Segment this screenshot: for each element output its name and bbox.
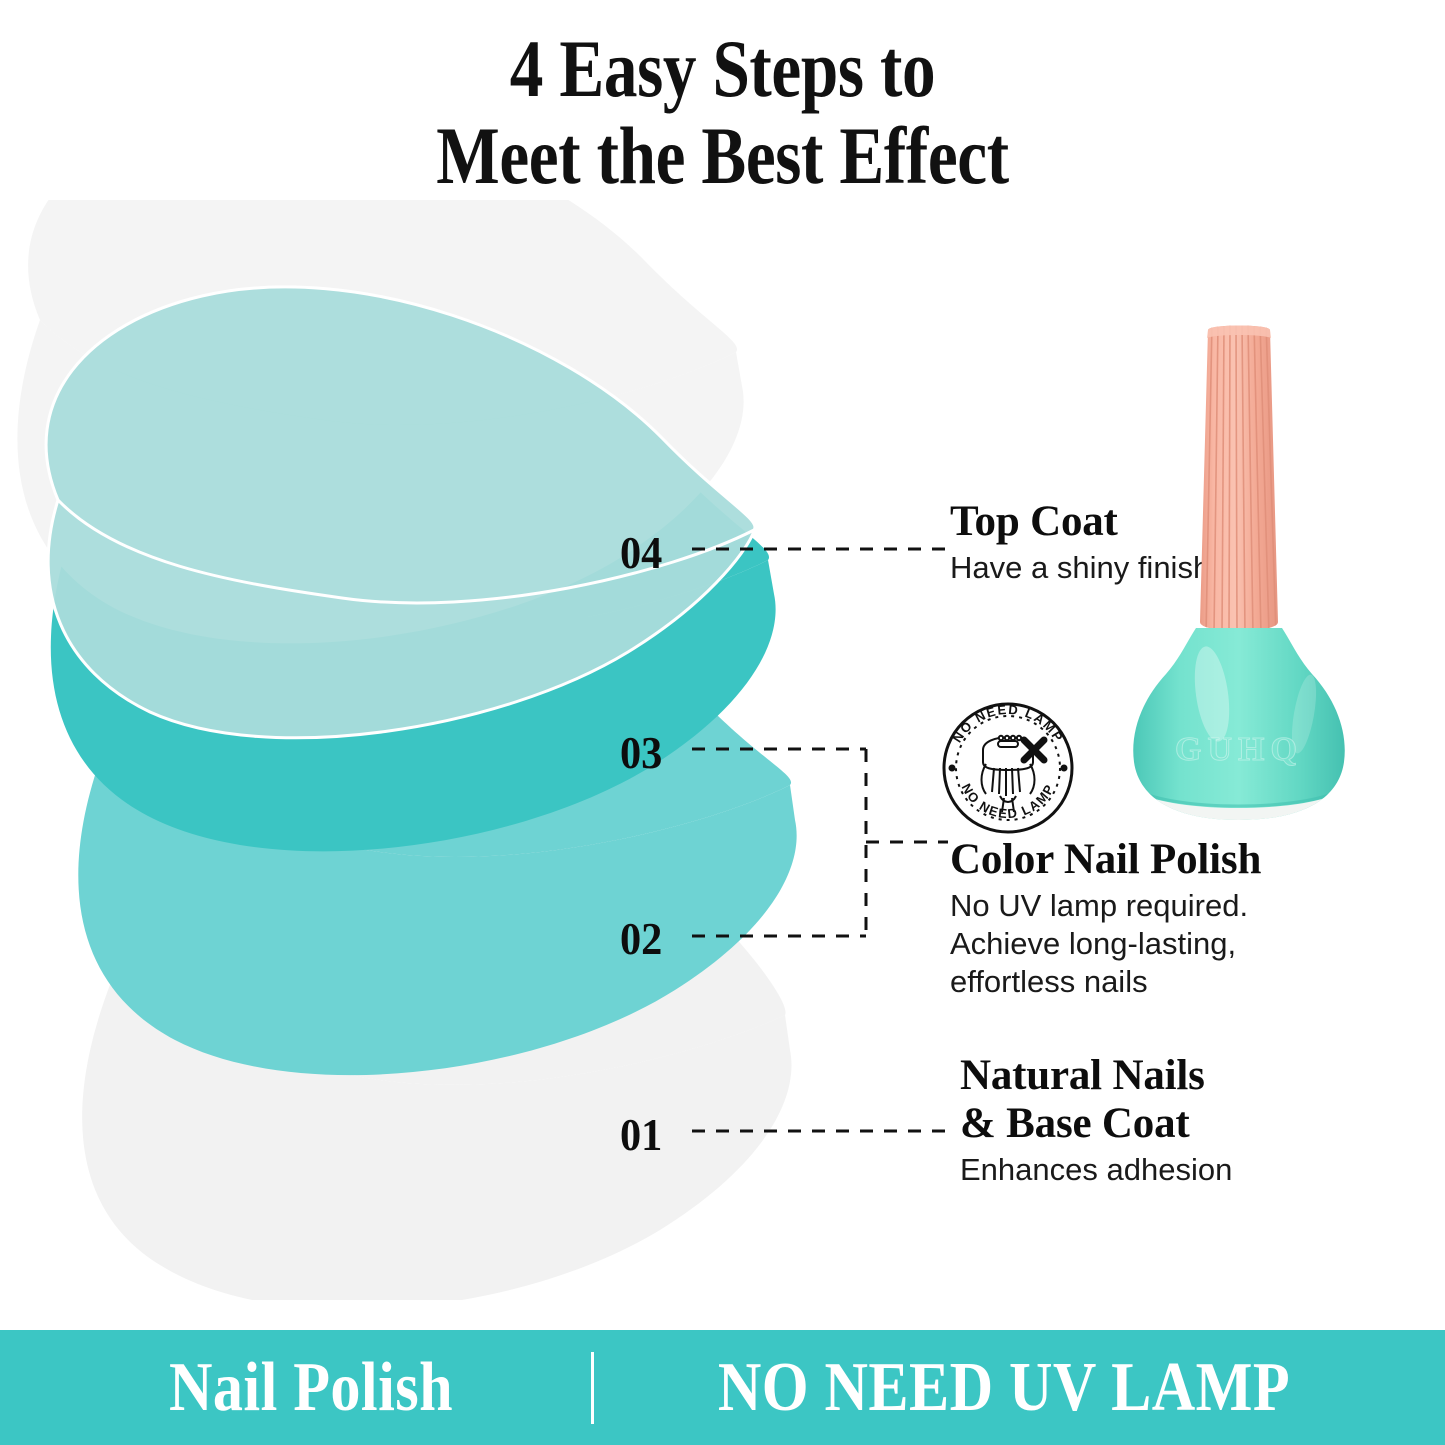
step-01-description: Enhances adhesion [960, 1151, 1232, 1189]
banner-left-text: Nail Polish [70, 1353, 552, 1423]
step-01-heading-line-2: & Base Coat [960, 1100, 1232, 1148]
step-03-heading-line-1: Color Nail Polish [950, 836, 1261, 884]
page-title: 4 Easy Steps to Meet the Best Effect [130, 26, 1315, 200]
bottle-brand-emboss: GUHQ [1175, 731, 1303, 768]
nail-polish-bottle-image: GUHQ [1108, 322, 1370, 842]
infographic-canvas: 4 Easy Steps to Meet the Best Effect [0, 0, 1445, 1445]
badge-dot-right [1061, 765, 1068, 772]
step-number-03: 03 [620, 726, 662, 779]
nail-layer-stack-illustration [0, 200, 880, 1300]
bottle-body: GUHQ [1133, 628, 1345, 822]
banner-divider [591, 1352, 594, 1424]
bottle-cap [1200, 322, 1278, 634]
banner-right-text: NO NEED UV LAMP [651, 1353, 1356, 1423]
step-text-block-03: Color Nail Polish No UV lamp required. A… [950, 836, 1261, 1001]
no-need-lamp-badge: NO NEED LAMP NO NEED LAMP [928, 688, 1088, 848]
step-number-04: 04 [620, 526, 662, 579]
title-line-2: Meet the Best Effect [130, 113, 1315, 200]
step-01-heading-line-1: Natural Nails [960, 1052, 1232, 1100]
bottom-banner: Nail Polish NO NEED UV LAMP [0, 1330, 1445, 1445]
step-number-01: 01 [620, 1108, 662, 1161]
step-number-02: 02 [620, 912, 662, 965]
step-01-description-line-1: Enhances adhesion [960, 1151, 1232, 1189]
step-03-description-line-1: No UV lamp required. [950, 887, 1261, 925]
step-text-block-01: Natural Nails & Base Coat Enhances adhes… [960, 1052, 1232, 1189]
step-03-description-line-3: effortless nails [950, 963, 1261, 1001]
step-03-heading: Color Nail Polish [950, 836, 1261, 884]
step-01-heading: Natural Nails & Base Coat [960, 1052, 1232, 1148]
step-03-description-line-2: Achieve long-lasting, [950, 925, 1261, 963]
step-03-description: No UV lamp required. Achieve long-lastin… [950, 887, 1261, 1000]
title-line-1: 4 Easy Steps to [510, 23, 935, 114]
badge-dot-left [949, 765, 956, 772]
